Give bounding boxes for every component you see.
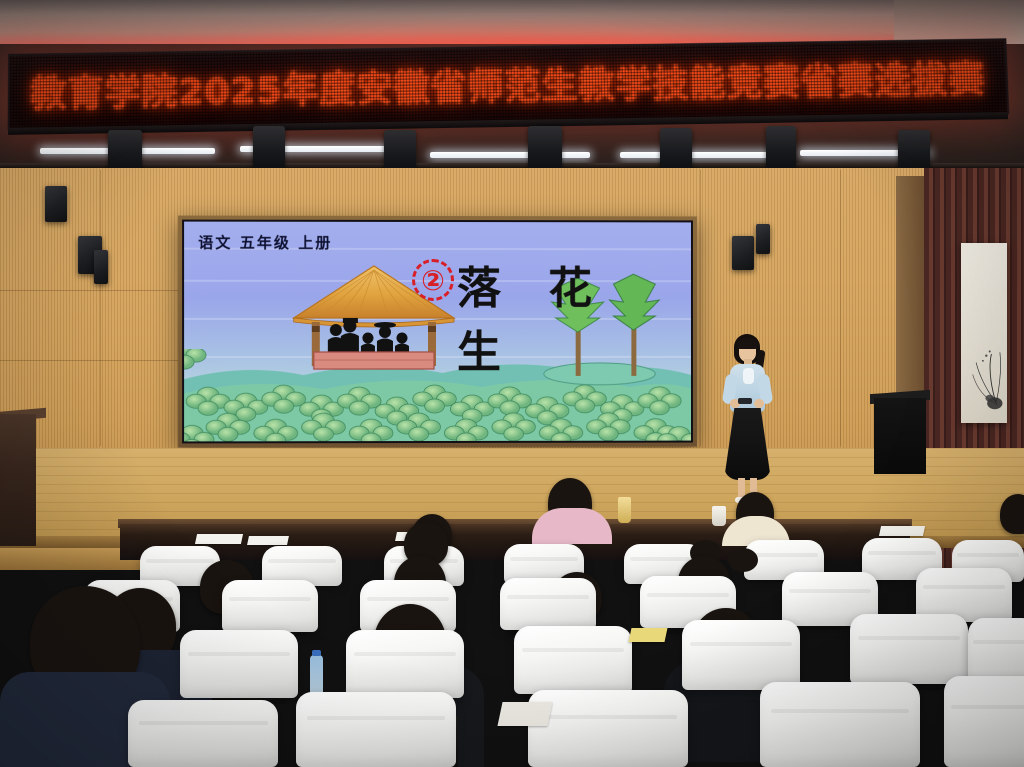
audience-chair[interactable]	[944, 676, 1024, 767]
slide-subject-line: 语文 五年级 上册	[198, 232, 332, 253]
audience-chair[interactable]	[296, 692, 456, 767]
score-sheet	[497, 702, 552, 726]
wall-speaker	[732, 236, 754, 270]
wall-seam	[700, 170, 701, 446]
presenter-bow	[743, 368, 754, 384]
fluorescent-tube	[430, 152, 590, 158]
score-sheet	[247, 536, 289, 545]
audience-chair[interactable]	[500, 578, 596, 630]
wall-seam	[100, 170, 101, 446]
wall-speaker	[45, 186, 67, 222]
audience-chair[interactable]	[222, 580, 318, 632]
bottle-cap	[312, 650, 321, 656]
auditorium-scene: 教育学院2025年度安徽省师范生教学技能竞赛省赛选拔赛	[0, 0, 1024, 767]
lesson-number-badge: ②	[412, 259, 454, 301]
tea-cup	[618, 497, 631, 523]
score-sheet	[879, 526, 925, 536]
audience-chair[interactable]	[850, 614, 968, 684]
stage-light-fixture	[108, 130, 142, 172]
wall-seam	[0, 290, 180, 291]
water-bottle[interactable]	[310, 655, 323, 695]
ink-painting-scroll	[961, 243, 1007, 423]
presenter-skirt	[724, 408, 771, 480]
projection-screen-frame: 语文 五年级 上册 ② 落 花 生	[178, 216, 697, 448]
audience-chair[interactable]	[346, 630, 464, 698]
stage-light-fixture	[660, 128, 692, 172]
audience-chair[interactable]	[760, 682, 920, 767]
presenter	[714, 334, 780, 510]
stage-light-fixture	[384, 130, 416, 172]
wall-speaker	[94, 250, 108, 284]
stage-light-fixture	[528, 126, 562, 170]
audience-chair[interactable]	[514, 626, 632, 694]
stage-light-fixture	[898, 130, 930, 172]
presentation-clicker[interactable]	[738, 398, 752, 404]
wall-seam	[0, 360, 180, 361]
audience-hair-bun	[728, 548, 758, 572]
lectern[interactable]	[0, 414, 36, 546]
stage-light-fixture	[253, 126, 285, 170]
fluorescent-tube	[620, 152, 770, 158]
stage-light-fixture	[766, 126, 796, 170]
slide-title: 落 花 生	[457, 252, 691, 380]
audience-shoulders	[532, 508, 612, 544]
audience-head	[1000, 494, 1024, 534]
score-sheet	[195, 534, 243, 544]
audience-chair[interactable]	[128, 700, 278, 767]
presenter-fringe	[737, 338, 758, 349]
score-sheet	[629, 628, 668, 642]
piano[interactable]	[874, 398, 926, 474]
presenter-right-hand	[754, 399, 764, 408]
audience-chair[interactable]	[180, 630, 298, 698]
orchid-ink-drawing	[971, 325, 1005, 417]
wall-speaker	[756, 224, 770, 254]
tea-cup	[712, 506, 726, 526]
audience-chair[interactable]	[682, 620, 800, 690]
projection-screen[interactable]: 语文 五年级 上册 ② 落 花 生	[182, 220, 693, 444]
wall-seam	[840, 170, 841, 446]
